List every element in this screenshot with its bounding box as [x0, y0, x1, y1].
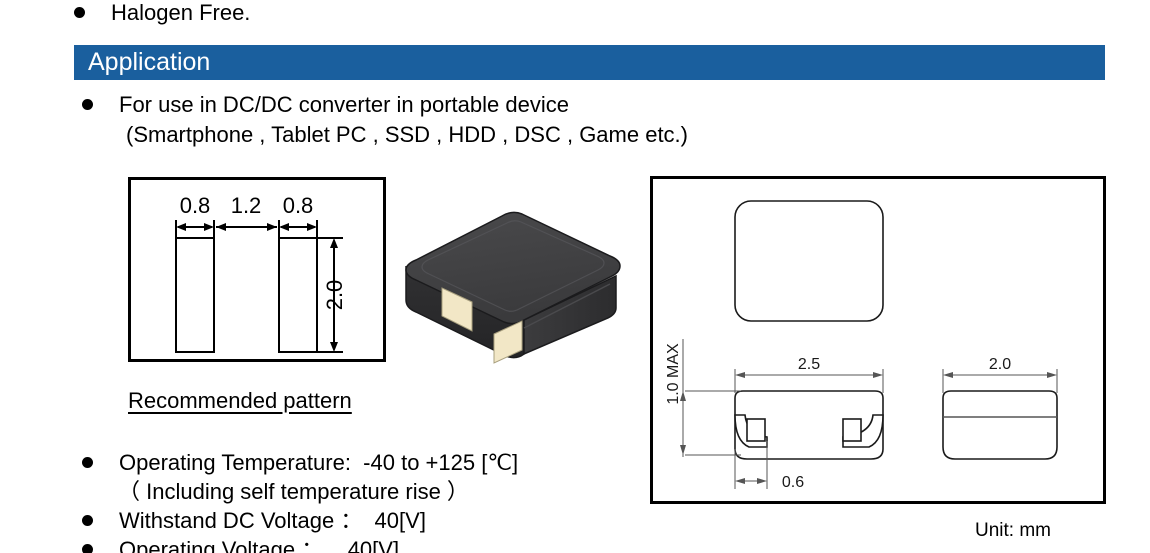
bullet-dot-icon: [82, 544, 93, 553]
front-view-height-label: 1.0 MAX: [665, 343, 682, 405]
bullet-dot-icon: [82, 99, 93, 110]
section-header-application: Application: [74, 45, 1105, 80]
bullet-dot-icon: [82, 457, 93, 468]
terminal-width-label: 0.6: [782, 474, 804, 491]
top-view-outline: [735, 201, 883, 321]
recommended-pattern-caption: Recommended pattern: [128, 388, 352, 414]
spec-bullet-withstand-voltage: Withstand DC Voltage ： 40[V]: [82, 508, 642, 534]
spec-bullet-operating-temperature: Operating Temperature: -40 to +125 [℃]: [82, 450, 642, 476]
feature-halogen-free-label: Halogen Free.: [111, 0, 250, 26]
unit-label: Unit: mm: [975, 520, 1051, 542]
recommended-pattern-panel: 0.8 1.2 0.8 2.0: [128, 177, 386, 362]
mechanical-drawing-panel: 2.5 1.0 MAX 0.6: [650, 176, 1106, 504]
datasheet-page: • Halogen Free. Application For use in D…: [0, 0, 1150, 553]
feature-bullet-halogen-free: Halogen Free.: [74, 0, 574, 26]
application-line1: For use in DC/DC converter in portable d…: [119, 92, 569, 118]
product-3d-render: [398, 188, 630, 370]
spec-operating-temperature-label: Operating Temperature: -40 to +125 [℃]: [119, 450, 518, 476]
side-view-body: [943, 391, 1057, 459]
bullet-dot-icon: [82, 515, 93, 526]
spec-operating-voltage-label: Operating Voltage ： 40[V]: [119, 537, 399, 553]
recommended-pattern-drawing: 0.8 1.2 0.8 2.0: [131, 180, 389, 365]
application-line2: (Smartphone , Tablet PC , SSD , HDD , DS…: [126, 122, 688, 148]
pad-dim-height-label: 2.0: [322, 280, 347, 311]
side-view-width-label: 2.0: [989, 356, 1011, 373]
front-view-length-label: 2.5: [798, 356, 820, 373]
bullet-dot-icon: [74, 7, 85, 18]
mechanical-drawing: 2.5 1.0 MAX 0.6: [653, 179, 1109, 507]
spec-withstand-voltage-label: Withstand DC Voltage ： 40[V]: [119, 508, 426, 534]
spec-operating-temperature-note: （ Including self temperature rise ）: [118, 479, 469, 505]
pad-dim-left-label: 0.8: [180, 193, 211, 218]
pad-dim-right-label: 0.8: [283, 193, 314, 218]
spec-bullet-operating-voltage-clipped: Operating Voltage ： 40[V]: [74, 537, 674, 553]
pad-dim-gap-label: 1.2: [231, 193, 262, 218]
application-bullet: For use in DC/DC converter in portable d…: [82, 92, 982, 118]
section-header-title: Application: [88, 48, 210, 77]
